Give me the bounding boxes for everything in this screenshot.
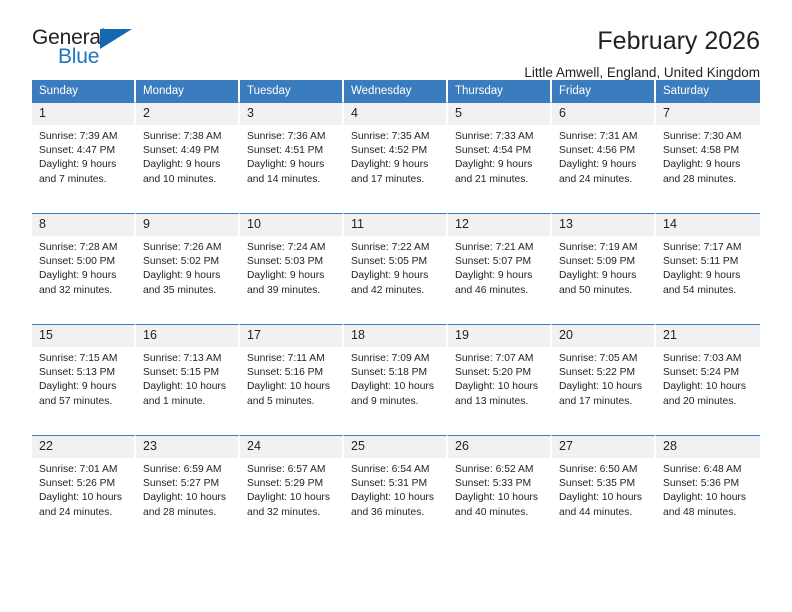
day-sunrise-text: Sunrise: 7:22 AM — [351, 241, 440, 255]
day-details: Sunrise: 7:07 AMSunset: 5:20 PMDaylight:… — [448, 347, 550, 409]
day-daylight-2-text: and 1 minute. — [143, 395, 232, 409]
day-sunset-text: Sunset: 5:26 PM — [39, 477, 128, 491]
day-sunrise-text: Sunrise: 7:36 AM — [247, 130, 336, 144]
calendar-day-cell[interactable]: 22Sunrise: 7:01 AMSunset: 5:26 PMDayligh… — [32, 435, 136, 546]
day-details: Sunrise: 7:28 AMSunset: 5:00 PMDaylight:… — [32, 236, 134, 298]
day-sunset-text: Sunset: 5:36 PM — [663, 477, 754, 491]
day-number: 11 — [344, 214, 446, 236]
day-daylight-2-text: and 40 minutes. — [455, 506, 544, 520]
calendar-day-cell[interactable]: 15Sunrise: 7:15 AMSunset: 5:13 PMDayligh… — [32, 324, 136, 435]
day-sunrise-text: Sunrise: 7:05 AM — [559, 352, 648, 366]
day-daylight-2-text: and 17 minutes. — [559, 395, 648, 409]
day-number: 12 — [448, 214, 550, 236]
day-daylight-2-text: and 28 minutes. — [663, 173, 754, 187]
day-details: Sunrise: 7:19 AMSunset: 5:09 PMDaylight:… — [552, 236, 654, 298]
day-details: Sunrise: 7:11 AMSunset: 5:16 PMDaylight:… — [240, 347, 342, 409]
day-sunrise-text: Sunrise: 7:30 AM — [663, 130, 754, 144]
day-details: Sunrise: 7:21 AMSunset: 5:07 PMDaylight:… — [448, 236, 550, 298]
page-header: General Blue February 2026 Little Amwell… — [32, 0, 760, 72]
day-daylight-1-text: Daylight: 9 hours — [351, 158, 440, 172]
calendar-day-cell[interactable]: 17Sunrise: 7:11 AMSunset: 5:16 PMDayligh… — [240, 324, 344, 435]
day-number: 9 — [136, 214, 238, 236]
calendar-day-cell[interactable]: 24Sunrise: 6:57 AMSunset: 5:29 PMDayligh… — [240, 435, 344, 546]
day-sunrise-text: Sunrise: 7:21 AM — [455, 241, 544, 255]
day-daylight-2-text: and 57 minutes. — [39, 395, 128, 409]
day-sunrise-text: Sunrise: 7:26 AM — [143, 241, 232, 255]
day-daylight-1-text: Daylight: 10 hours — [247, 380, 336, 394]
day-sunset-text: Sunset: 5:09 PM — [559, 255, 648, 269]
day-number: 23 — [136, 436, 238, 458]
day-details: Sunrise: 7:01 AMSunset: 5:26 PMDaylight:… — [32, 458, 134, 520]
day-sunrise-text: Sunrise: 7:03 AM — [663, 352, 754, 366]
calendar-day-cell[interactable]: 3Sunrise: 7:36 AMSunset: 4:51 PMDaylight… — [240, 102, 344, 213]
calendar-week-row: 15Sunrise: 7:15 AMSunset: 5:13 PMDayligh… — [32, 324, 760, 435]
day-number: 16 — [136, 325, 238, 347]
day-sunset-text: Sunset: 5:16 PM — [247, 366, 336, 380]
title-block: February 2026 Little Amwell, England, Un… — [142, 26, 760, 83]
day-daylight-2-text: and 32 minutes. — [39, 284, 128, 298]
day-sunrise-text: Sunrise: 7:24 AM — [247, 241, 336, 255]
calendar-day-cell[interactable]: 26Sunrise: 6:52 AMSunset: 5:33 PMDayligh… — [448, 435, 552, 546]
general-blue-logo[interactable]: General Blue — [32, 26, 142, 72]
day-daylight-1-text: Daylight: 10 hours — [39, 491, 128, 505]
day-daylight-1-text: Daylight: 10 hours — [559, 380, 648, 394]
day-sunrise-text: Sunrise: 7:07 AM — [455, 352, 544, 366]
calendar-day-cell[interactable]: 19Sunrise: 7:07 AMSunset: 5:20 PMDayligh… — [448, 324, 552, 435]
calendar-day-cell[interactable]: 27Sunrise: 6:50 AMSunset: 5:35 PMDayligh… — [552, 435, 656, 546]
day-details: Sunrise: 6:52 AMSunset: 5:33 PMDaylight:… — [448, 458, 550, 520]
day-number: 18 — [344, 325, 446, 347]
day-daylight-2-text: and 39 minutes. — [247, 284, 336, 298]
calendar-day-cell[interactable]: 1Sunrise: 7:39 AMSunset: 4:47 PMDaylight… — [32, 102, 136, 213]
day-daylight-1-text: Daylight: 9 hours — [455, 269, 544, 283]
day-sunrise-text: Sunrise: 6:57 AM — [247, 463, 336, 477]
day-number: 21 — [656, 325, 760, 347]
weekday-header-tuesday: Tuesday — [240, 80, 344, 102]
day-sunrise-text: Sunrise: 7:17 AM — [663, 241, 754, 255]
day-sunset-text: Sunset: 4:49 PM — [143, 144, 232, 158]
day-details: Sunrise: 7:24 AMSunset: 5:03 PMDaylight:… — [240, 236, 342, 298]
day-details: Sunrise: 7:13 AMSunset: 5:15 PMDaylight:… — [136, 347, 238, 409]
calendar-day-cell[interactable]: 13Sunrise: 7:19 AMSunset: 5:09 PMDayligh… — [552, 213, 656, 324]
day-daylight-2-text: and 35 minutes. — [143, 284, 232, 298]
day-sunset-text: Sunset: 5:07 PM — [455, 255, 544, 269]
day-details: Sunrise: 7:15 AMSunset: 5:13 PMDaylight:… — [32, 347, 134, 409]
day-sunset-text: Sunset: 4:51 PM — [247, 144, 336, 158]
calendar-day-cell[interactable]: 16Sunrise: 7:13 AMSunset: 5:15 PMDayligh… — [136, 324, 240, 435]
day-number: 24 — [240, 436, 342, 458]
day-number: 26 — [448, 436, 550, 458]
day-details: Sunrise: 7:05 AMSunset: 5:22 PMDaylight:… — [552, 347, 654, 409]
day-daylight-1-text: Daylight: 10 hours — [143, 380, 232, 394]
logo-text-blue: Blue — [58, 45, 99, 69]
calendar-day-cell[interactable]: 5Sunrise: 7:33 AMSunset: 4:54 PMDaylight… — [448, 102, 552, 213]
day-daylight-2-text: and 7 minutes. — [39, 173, 128, 187]
day-daylight-2-text: and 9 minutes. — [351, 395, 440, 409]
day-details: Sunrise: 7:38 AMSunset: 4:49 PMDaylight:… — [136, 125, 238, 187]
calendar-day-cell[interactable]: 8Sunrise: 7:28 AMSunset: 5:00 PMDaylight… — [32, 213, 136, 324]
sunrise-sunset-calendar: Sunday Monday Tuesday Wednesday Thursday… — [32, 80, 760, 546]
day-sunset-text: Sunset: 4:56 PM — [559, 144, 648, 158]
day-sunrise-text: Sunrise: 7:19 AM — [559, 241, 648, 255]
day-daylight-1-text: Daylight: 10 hours — [351, 380, 440, 394]
day-sunset-text: Sunset: 5:03 PM — [247, 255, 336, 269]
day-sunset-text: Sunset: 5:24 PM — [663, 366, 754, 380]
day-daylight-2-text: and 50 minutes. — [559, 284, 648, 298]
day-number: 5 — [448, 103, 550, 125]
day-details: Sunrise: 7:30 AMSunset: 4:58 PMDaylight:… — [656, 125, 760, 187]
day-daylight-2-text: and 5 minutes. — [247, 395, 336, 409]
day-number: 27 — [552, 436, 654, 458]
day-daylight-1-text: Daylight: 9 hours — [247, 158, 336, 172]
day-number: 25 — [344, 436, 446, 458]
day-daylight-1-text: Daylight: 10 hours — [247, 491, 336, 505]
calendar-body: 1Sunrise: 7:39 AMSunset: 4:47 PMDaylight… — [32, 102, 760, 546]
day-details: Sunrise: 7:35 AMSunset: 4:52 PMDaylight:… — [344, 125, 446, 187]
day-number: 4 — [344, 103, 446, 125]
day-daylight-1-text: Daylight: 9 hours — [559, 158, 648, 172]
day-daylight-2-text: and 44 minutes. — [559, 506, 648, 520]
day-daylight-2-text: and 32 minutes. — [247, 506, 336, 520]
calendar-day-cell[interactable]: 7Sunrise: 7:30 AMSunset: 4:58 PMDaylight… — [656, 102, 760, 213]
day-sunset-text: Sunset: 5:15 PM — [143, 366, 232, 380]
day-daylight-1-text: Daylight: 10 hours — [351, 491, 440, 505]
weekday-header-thursday: Thursday — [448, 80, 552, 102]
logo-triangle-icon — [100, 29, 132, 49]
day-daylight-2-text: and 46 minutes. — [455, 284, 544, 298]
day-sunrise-text: Sunrise: 6:54 AM — [351, 463, 440, 477]
day-daylight-2-text: and 28 minutes. — [143, 506, 232, 520]
calendar-day-cell[interactable]: 2Sunrise: 7:38 AMSunset: 4:49 PMDaylight… — [136, 102, 240, 213]
day-details: Sunrise: 7:39 AMSunset: 4:47 PMDaylight:… — [32, 125, 134, 187]
day-sunset-text: Sunset: 4:47 PM — [39, 144, 128, 158]
weekday-header-friday: Friday — [552, 80, 656, 102]
day-number: 14 — [656, 214, 760, 236]
day-details: Sunrise: 6:57 AMSunset: 5:29 PMDaylight:… — [240, 458, 342, 520]
day-number: 8 — [32, 214, 134, 236]
day-daylight-1-text: Daylight: 9 hours — [663, 158, 754, 172]
day-sunset-text: Sunset: 5:02 PM — [143, 255, 232, 269]
weekday-header-monday: Monday — [136, 80, 240, 102]
day-number: 22 — [32, 436, 134, 458]
weekday-header-sunday: Sunday — [32, 80, 136, 102]
day-details: Sunrise: 7:17 AMSunset: 5:11 PMDaylight:… — [656, 236, 760, 298]
calendar-week-row: 1Sunrise: 7:39 AMSunset: 4:47 PMDaylight… — [32, 102, 760, 213]
day-sunrise-text: Sunrise: 7:38 AM — [143, 130, 232, 144]
day-daylight-2-text: and 13 minutes. — [455, 395, 544, 409]
calendar-day-cell[interactable]: 23Sunrise: 6:59 AMSunset: 5:27 PMDayligh… — [136, 435, 240, 546]
day-details: Sunrise: 6:54 AMSunset: 5:31 PMDaylight:… — [344, 458, 446, 520]
day-sunset-text: Sunset: 5:27 PM — [143, 477, 232, 491]
day-details: Sunrise: 6:48 AMSunset: 5:36 PMDaylight:… — [656, 458, 760, 520]
day-sunrise-text: Sunrise: 7:33 AM — [455, 130, 544, 144]
day-sunset-text: Sunset: 4:52 PM — [351, 144, 440, 158]
day-sunrise-text: Sunrise: 7:11 AM — [247, 352, 336, 366]
day-daylight-1-text: Daylight: 10 hours — [559, 491, 648, 505]
day-daylight-1-text: Daylight: 10 hours — [663, 380, 754, 394]
day-daylight-1-text: Daylight: 9 hours — [39, 380, 128, 394]
day-details: Sunrise: 7:31 AMSunset: 4:56 PMDaylight:… — [552, 125, 654, 187]
weekday-header-saturday: Saturday — [656, 80, 760, 102]
day-details: Sunrise: 7:26 AMSunset: 5:02 PMDaylight:… — [136, 236, 238, 298]
day-sunrise-text: Sunrise: 6:50 AM — [559, 463, 648, 477]
day-sunset-text: Sunset: 5:31 PM — [351, 477, 440, 491]
day-daylight-1-text: Daylight: 9 hours — [663, 269, 754, 283]
day-details: Sunrise: 6:50 AMSunset: 5:35 PMDaylight:… — [552, 458, 654, 520]
calendar-day-cell[interactable]: 21Sunrise: 7:03 AMSunset: 5:24 PMDayligh… — [656, 324, 760, 435]
weekday-header-wednesday: Wednesday — [344, 80, 448, 102]
day-details: Sunrise: 7:22 AMSunset: 5:05 PMDaylight:… — [344, 236, 446, 298]
page-title: February 2026 — [142, 26, 760, 56]
day-sunset-text: Sunset: 5:11 PM — [663, 255, 754, 269]
calendar-day-cell[interactable]: 20Sunrise: 7:05 AMSunset: 5:22 PMDayligh… — [552, 324, 656, 435]
day-daylight-1-text: Daylight: 10 hours — [455, 491, 544, 505]
calendar-day-cell[interactable]: 18Sunrise: 7:09 AMSunset: 5:18 PMDayligh… — [344, 324, 448, 435]
day-sunset-text: Sunset: 5:05 PM — [351, 255, 440, 269]
day-sunrise-text: Sunrise: 7:15 AM — [39, 352, 128, 366]
day-daylight-2-text: and 17 minutes. — [351, 173, 440, 187]
day-sunset-text: Sunset: 5:22 PM — [559, 366, 648, 380]
day-daylight-1-text: Daylight: 9 hours — [143, 158, 232, 172]
day-sunrise-text: Sunrise: 7:35 AM — [351, 130, 440, 144]
day-daylight-2-text: and 10 minutes. — [143, 173, 232, 187]
calendar-week-row: 8Sunrise: 7:28 AMSunset: 5:00 PMDaylight… — [32, 213, 760, 324]
day-sunset-text: Sunset: 5:00 PM — [39, 255, 128, 269]
calendar-header-row: Sunday Monday Tuesday Wednesday Thursday… — [32, 80, 760, 102]
day-sunset-text: Sunset: 5:20 PM — [455, 366, 544, 380]
day-number: 10 — [240, 214, 342, 236]
day-daylight-1-text: Daylight: 10 hours — [143, 491, 232, 505]
day-daylight-1-text: Daylight: 10 hours — [455, 380, 544, 394]
calendar-day-cell[interactable]: 11Sunrise: 7:22 AMSunset: 5:05 PMDayligh… — [344, 213, 448, 324]
day-sunset-text: Sunset: 5:13 PM — [39, 366, 128, 380]
day-daylight-1-text: Daylight: 9 hours — [351, 269, 440, 283]
day-daylight-1-text: Daylight: 10 hours — [663, 491, 754, 505]
calendar-day-cell[interactable]: 12Sunrise: 7:21 AMSunset: 5:07 PMDayligh… — [448, 213, 552, 324]
day-number: 20 — [552, 325, 654, 347]
calendar-day-cell[interactable]: 9Sunrise: 7:26 AMSunset: 5:02 PMDaylight… — [136, 213, 240, 324]
day-number: 7 — [656, 103, 760, 125]
day-sunset-text: Sunset: 5:18 PM — [351, 366, 440, 380]
page-subtitle: Little Amwell, England, United Kingdom — [142, 63, 760, 83]
day-sunset-text: Sunset: 5:33 PM — [455, 477, 544, 491]
day-daylight-1-text: Daylight: 9 hours — [143, 269, 232, 283]
day-sunrise-text: Sunrise: 7:31 AM — [559, 130, 648, 144]
day-daylight-2-text: and 42 minutes. — [351, 284, 440, 298]
day-details: Sunrise: 7:36 AMSunset: 4:51 PMDaylight:… — [240, 125, 342, 187]
day-details: Sunrise: 7:03 AMSunset: 5:24 PMDaylight:… — [656, 347, 760, 409]
calendar-week-row: 22Sunrise: 7:01 AMSunset: 5:26 PMDayligh… — [32, 435, 760, 546]
day-details: Sunrise: 7:33 AMSunset: 4:54 PMDaylight:… — [448, 125, 550, 187]
day-sunrise-text: Sunrise: 6:59 AM — [143, 463, 232, 477]
calendar-page: General Blue February 2026 Little Amwell… — [0, 0, 792, 612]
day-daylight-1-text: Daylight: 9 hours — [455, 158, 544, 172]
day-daylight-2-text: and 21 minutes. — [455, 173, 544, 187]
day-number: 1 — [32, 103, 134, 125]
day-sunrise-text: Sunrise: 7:01 AM — [39, 463, 128, 477]
day-sunset-text: Sunset: 4:58 PM — [663, 144, 754, 158]
day-sunset-text: Sunset: 5:35 PM — [559, 477, 648, 491]
day-sunrise-text: Sunrise: 6:52 AM — [455, 463, 544, 477]
day-sunset-text: Sunset: 4:54 PM — [455, 144, 544, 158]
day-number: 3 — [240, 103, 342, 125]
calendar-day-cell[interactable]: 25Sunrise: 6:54 AMSunset: 5:31 PMDayligh… — [344, 435, 448, 546]
day-number: 6 — [552, 103, 654, 125]
day-daylight-2-text: and 48 minutes. — [663, 506, 754, 520]
calendar-day-cell[interactable]: 6Sunrise: 7:31 AMSunset: 4:56 PMDaylight… — [552, 102, 656, 213]
calendar-day-cell[interactable]: 14Sunrise: 7:17 AMSunset: 5:11 PMDayligh… — [656, 213, 760, 324]
calendar-day-cell[interactable]: 28Sunrise: 6:48 AMSunset: 5:36 PMDayligh… — [656, 435, 760, 546]
day-daylight-2-text: and 20 minutes. — [663, 395, 754, 409]
day-sunrise-text: Sunrise: 7:09 AM — [351, 352, 440, 366]
day-number: 17 — [240, 325, 342, 347]
day-daylight-2-text: and 14 minutes. — [247, 173, 336, 187]
calendar-day-cell[interactable]: 4Sunrise: 7:35 AMSunset: 4:52 PMDaylight… — [344, 102, 448, 213]
day-details: Sunrise: 7:09 AMSunset: 5:18 PMDaylight:… — [344, 347, 446, 409]
day-sunset-text: Sunset: 5:29 PM — [247, 477, 336, 491]
day-daylight-2-text: and 24 minutes. — [559, 173, 648, 187]
day-daylight-1-text: Daylight: 9 hours — [39, 269, 128, 283]
day-number: 15 — [32, 325, 134, 347]
day-sunrise-text: Sunrise: 7:28 AM — [39, 241, 128, 255]
day-daylight-2-text: and 36 minutes. — [351, 506, 440, 520]
day-sunrise-text: Sunrise: 6:48 AM — [663, 463, 754, 477]
day-number: 28 — [656, 436, 760, 458]
day-number: 13 — [552, 214, 654, 236]
day-daylight-2-text: and 24 minutes. — [39, 506, 128, 520]
day-daylight-2-text: and 54 minutes. — [663, 284, 754, 298]
day-daylight-1-text: Daylight: 9 hours — [559, 269, 648, 283]
day-daylight-1-text: Daylight: 9 hours — [39, 158, 128, 172]
day-sunrise-text: Sunrise: 7:13 AM — [143, 352, 232, 366]
day-details: Sunrise: 6:59 AMSunset: 5:27 PMDaylight:… — [136, 458, 238, 520]
day-daylight-1-text: Daylight: 9 hours — [247, 269, 336, 283]
day-sunrise-text: Sunrise: 7:39 AM — [39, 130, 128, 144]
calendar-day-cell[interactable]: 10Sunrise: 7:24 AMSunset: 5:03 PMDayligh… — [240, 213, 344, 324]
day-number: 2 — [136, 103, 238, 125]
day-number: 19 — [448, 325, 550, 347]
